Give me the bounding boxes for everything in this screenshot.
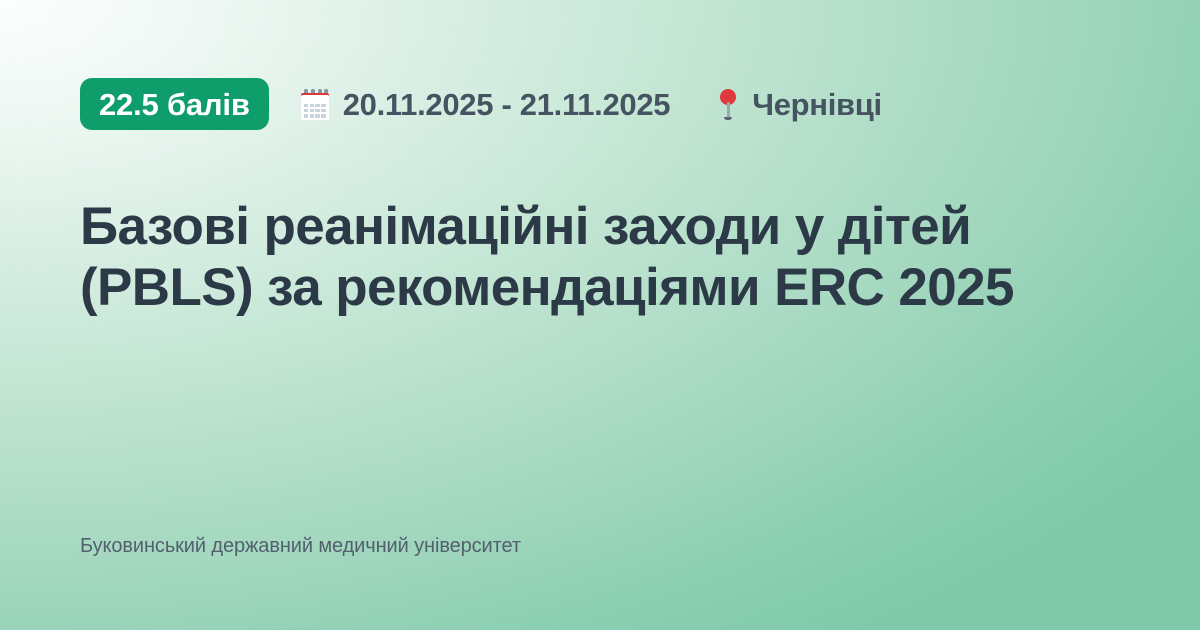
event-meta-row: 22.5 балів 20.11.2025 - 21.11.2025 bbox=[80, 78, 1120, 130]
event-title-line-2: (PBLS) за рекомендаціями ERC 2025 bbox=[80, 258, 1014, 317]
event-promo-card: 22.5 балів 20.11.2025 - 21.11.2025 bbox=[0, 0, 1200, 630]
event-location: Чернівці bbox=[717, 88, 882, 121]
event-date-range: 20.11.2025 - 21.11.2025 bbox=[300, 89, 671, 120]
event-title-line-1: Базові реанімаційні заходи у дітей bbox=[80, 197, 971, 256]
map-pin-icon bbox=[717, 88, 739, 121]
card-content: 22.5 балів 20.11.2025 - 21.11.2025 bbox=[80, 78, 1120, 319]
event-date-text: 20.11.2025 - 21.11.2025 bbox=[343, 89, 671, 120]
calendar-icon bbox=[300, 89, 330, 120]
event-location-text: Чернівці bbox=[752, 89, 882, 120]
organization-name: Буковинський державний медичний універси… bbox=[80, 535, 521, 558]
score-badge: 22.5 балів bbox=[80, 78, 269, 130]
event-title: Базові реанімаційні заходи у дітей (PBLS… bbox=[80, 130, 1090, 319]
